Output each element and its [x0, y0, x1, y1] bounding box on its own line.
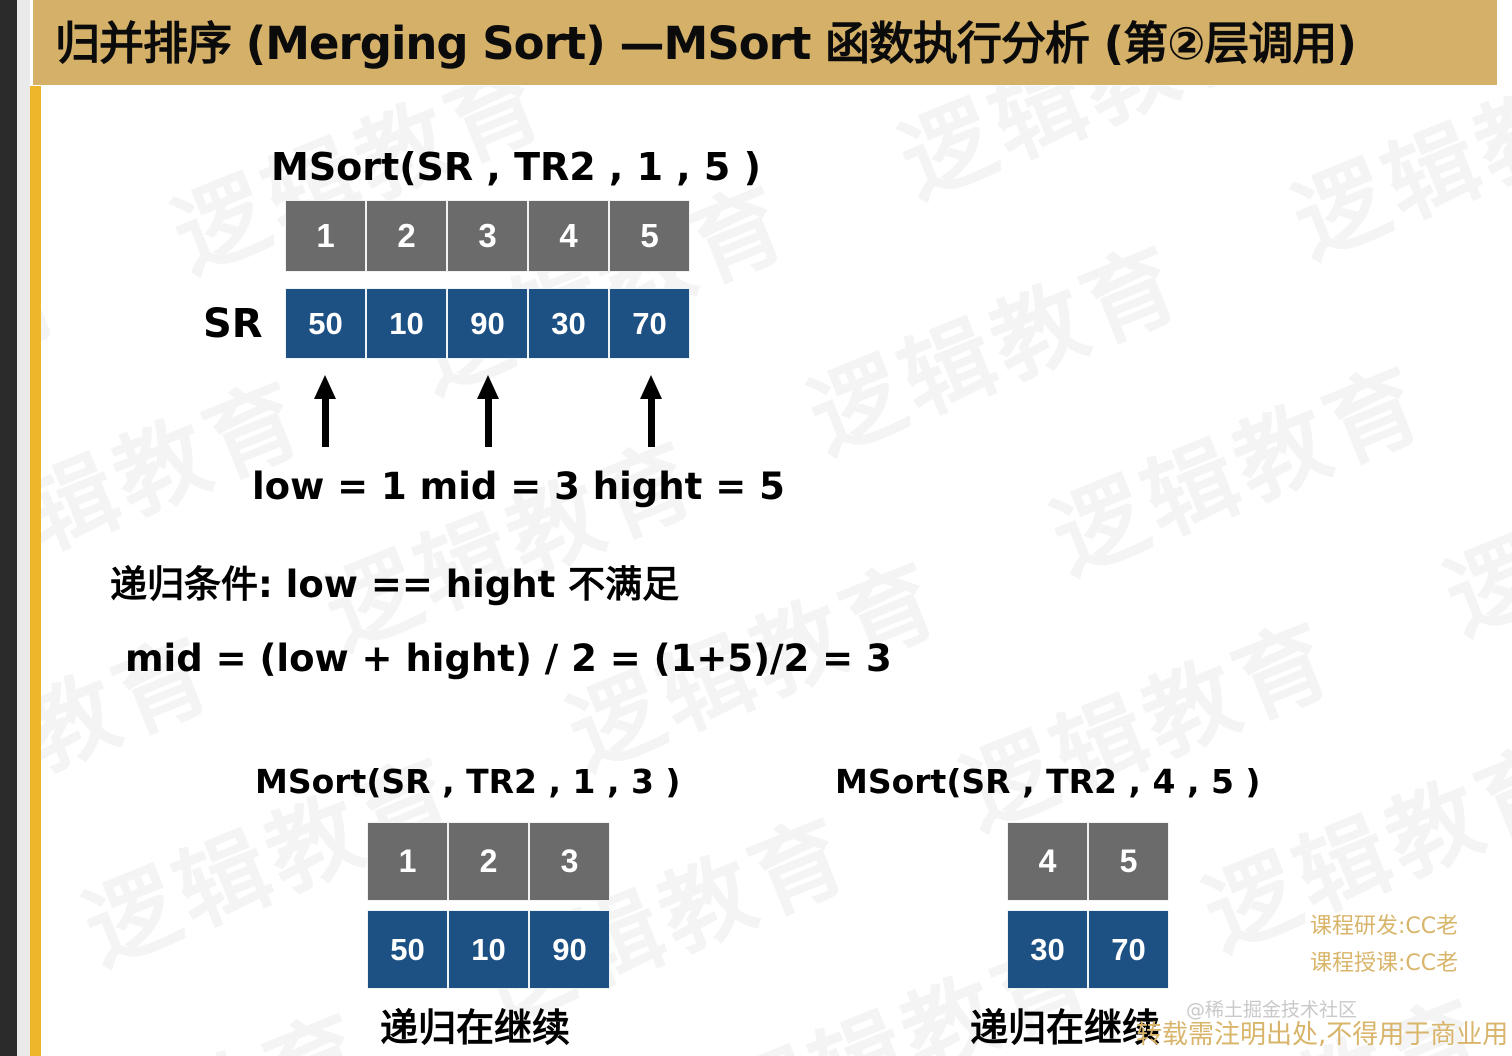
index-cell: 3 — [447, 200, 528, 272]
window-left-dark-rail — [0, 0, 17, 1056]
pointer-arrow-icon-low — [308, 375, 342, 447]
value-cell: 70 — [609, 288, 690, 359]
value-cell: 30 — [1007, 910, 1088, 989]
value-cell: 10 — [366, 288, 447, 359]
window-left-gray-rail — [17, 0, 30, 1056]
sub-call-right-index-row: 4 5 — [1007, 822, 1169, 901]
watermark-text: 逻辑教育 — [41, 975, 384, 1056]
index-cell: 1 — [285, 200, 366, 272]
index-cell: 4 — [1007, 822, 1088, 901]
value-cell: 50 — [285, 288, 366, 359]
sub-call-right-status: 递归在继续 — [970, 997, 1160, 1052]
sub-call-right-value-row: 30 70 — [1007, 910, 1169, 989]
index-cell: 3 — [529, 822, 610, 901]
index-cell: 2 — [448, 822, 529, 901]
value-cell: 90 — [447, 288, 528, 359]
watermark-text: 逻辑教育 — [787, 208, 1200, 478]
watermark-text: 逻辑教育 — [41, 222, 80, 492]
watermark-text: 逻辑教育 — [1271, 86, 1512, 282]
index-cell: 1 — [367, 822, 448, 901]
pointer-arrow-icon-mid — [471, 375, 505, 447]
mid-calculation-line: mid = (low + hight) / 2 = (1+5)/2 = 3 — [125, 637, 892, 680]
sub-call-left-status: 递归在继续 — [380, 997, 570, 1052]
index-cell: 4 — [528, 200, 609, 272]
recursion-condition-line: 递归条件: low == hight 不满足 — [110, 554, 679, 608]
value-cell: 50 — [367, 910, 448, 989]
array-label-sr: SR — [203, 301, 263, 347]
watermark-text: 逻辑教育 — [939, 584, 1352, 854]
credit-teaching: 课程授课:CC老 — [1310, 945, 1458, 977]
watermark-text: 逻辑教育 — [878, 86, 1291, 222]
page-title: 归并排序 (Merging Sort) —MSort 函数执行分析 (第②层调用… — [55, 7, 1356, 72]
index-cell: 5 — [609, 200, 690, 272]
index-cell: 5 — [1088, 822, 1169, 901]
value-cell: 70 — [1088, 910, 1169, 989]
top-index-row: 1 2 3 4 5 — [285, 200, 690, 272]
watermark-row: 逻辑教育逻辑教育逻辑教育逻辑教育逻辑教育 — [41, 86, 1512, 613]
sub-call-right-signature: MSort(SR , TR2 , 4 , 5 ) — [835, 762, 1261, 801]
pointer-arrow-icon-hight — [634, 375, 668, 447]
sub-call-left-index-row: 1 2 3 — [367, 822, 610, 901]
pointer-legend-line: low = 1 mid = 3 hight = 5 — [252, 465, 785, 508]
top-value-row: 50 10 90 30 70 — [285, 288, 690, 359]
index-cell: 2 — [366, 200, 447, 272]
watermark-text: 逻辑教育 — [1030, 328, 1443, 598]
top-call-signature: MSort(SR , TR2 , 1 , 5 ) — [271, 145, 761, 189]
watermark-text: 逻辑教育 — [1423, 389, 1512, 659]
value-cell: 30 — [528, 288, 609, 359]
value-cell: 90 — [529, 910, 610, 989]
watermark-text: 逻辑教育 — [635, 86, 1048, 101]
credit-development: 课程研发:CC老 — [1310, 908, 1458, 940]
slide-accent-left-border — [30, 86, 41, 1056]
site-watermark: @稀土掘金技术社区 — [1186, 995, 1357, 1022]
sub-call-left-value-row: 50 10 90 — [367, 910, 610, 989]
sub-call-left-signature: MSort(SR , TR2 , 1 , 3 ) — [255, 762, 681, 801]
slide-title-bar: 归并排序 (Merging Sort) —MSort 函数执行分析 (第②层调用… — [33, 0, 1497, 85]
slide-canvas: 逻辑教育逻辑教育逻辑教育逻辑教育逻辑教育逻辑教育逻辑教育逻辑教育逻辑教育逻辑教育… — [0, 0, 1512, 1056]
value-cell: 10 — [448, 910, 529, 989]
